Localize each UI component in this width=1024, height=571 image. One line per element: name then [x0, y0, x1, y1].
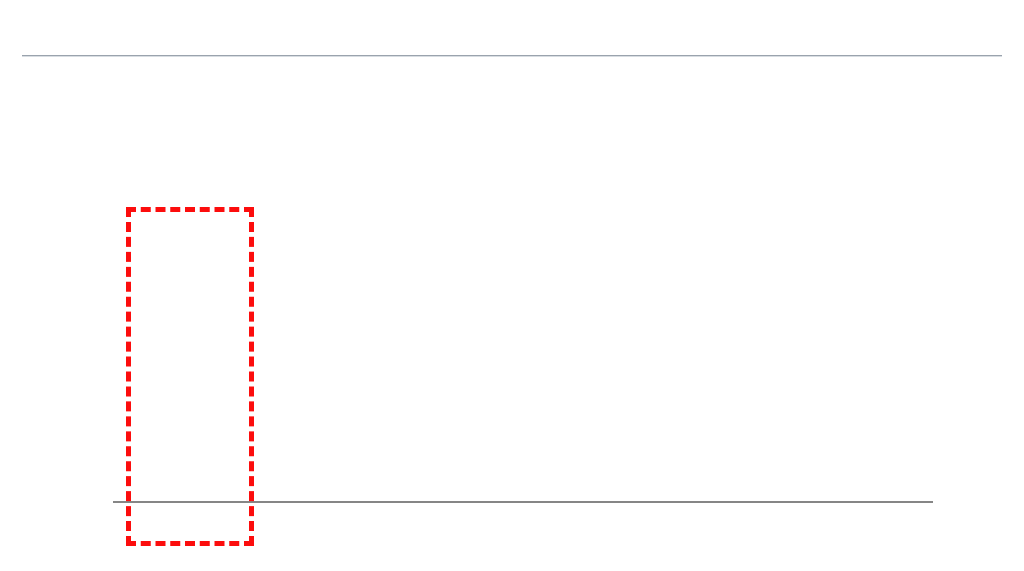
plot-area [113, 232, 933, 501]
y-axis-ticks [57, 232, 105, 501]
title-divider [22, 55, 1002, 57]
x-axis-line [113, 501, 933, 503]
stacked-bar-chart [0, 196, 1024, 571]
